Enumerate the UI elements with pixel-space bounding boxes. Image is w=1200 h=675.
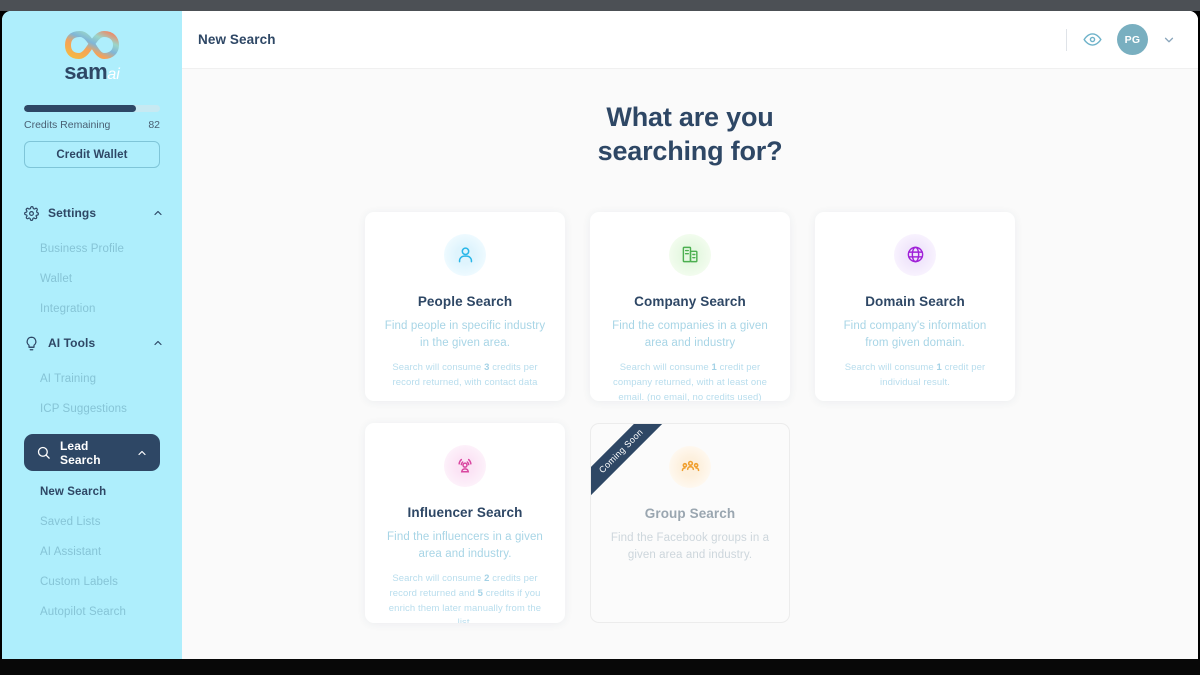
header-divider	[1066, 29, 1067, 51]
hero-line-2: searching for?	[182, 135, 1198, 169]
avatar[interactable]: PG	[1117, 24, 1148, 55]
card-credit-note: Search will consume 3 credits per record…	[381, 361, 549, 390]
credits-progress-bar	[24, 105, 160, 112]
sidebar-item-label: AI Tools	[48, 336, 143, 350]
sidebar-item-autopilot-search[interactable]: Autopilot Search	[2, 597, 182, 627]
infinity-logo-icon	[63, 27, 121, 63]
sidebar: samai Credits Remaining 82 Credit Wallet	[2, 11, 182, 659]
top-header: New Search PG	[182, 11, 1198, 69]
sidebar-item-integration[interactable]: Integration	[2, 294, 182, 324]
lightbulb-icon	[24, 336, 39, 351]
sidebar-item-ai-tools[interactable]: AI Tools	[2, 328, 182, 358]
app-logo[interactable]: samai	[2, 11, 182, 83]
globe-icon	[894, 234, 936, 276]
sidebar-item-wallet[interactable]: Wallet	[2, 264, 182, 294]
eye-icon[interactable]	[1081, 29, 1103, 51]
sidebar-item-new-search[interactable]: New Search	[2, 477, 182, 507]
chevron-down-icon[interactable]	[1162, 33, 1176, 47]
browser-chrome-bottom	[0, 659, 1200, 675]
main-area: New Search PG	[182, 11, 1198, 659]
card-company-search[interactable]: Company Search Find the companies in a g…	[590, 212, 790, 401]
sidebar-item-label: Lead Search	[60, 439, 127, 467]
card-group-search: Coming Soon Group Search	[590, 423, 790, 623]
screenshot-frame: samai Credits Remaining 82 Credit Wallet	[0, 0, 1200, 675]
sidebar-item-ai-training[interactable]: AI Training	[2, 364, 182, 394]
chevron-up-icon	[136, 447, 148, 459]
credits-block: Credits Remaining 82 Credit Wallet	[24, 105, 160, 168]
credits-row: Credits Remaining 82	[24, 119, 160, 131]
browser-chrome-top	[0, 0, 1200, 11]
content-area: What are you searching for? People Searc…	[182, 69, 1198, 659]
card-description: Find the Facebook groups in a given area…	[607, 530, 773, 566]
sidebar-item-saved-lists[interactable]: Saved Lists	[2, 507, 182, 537]
nav-sub-ai-tools: AI Training ICP Suggestions	[2, 358, 182, 424]
sidebar-item-ai-assistant[interactable]: AI Assistant	[2, 537, 182, 567]
sidebar-nav: Settings Business Profile Wallet Integra…	[2, 198, 182, 627]
sidebar-item-lead-search[interactable]: Lead Search	[24, 434, 160, 471]
gear-icon	[24, 206, 39, 221]
app-viewport: samai Credits Remaining 82 Credit Wallet	[2, 11, 1198, 659]
sidebar-item-label: Settings	[48, 206, 143, 220]
card-credit-note: Search will consume 1 credit per individ…	[831, 361, 999, 390]
card-description: Find the companies in a given area and i…	[606, 318, 774, 354]
nav-group-ai-tools: AI Tools AI Training ICP Suggestions	[2, 328, 182, 424]
sidebar-item-custom-labels[interactable]: Custom Labels	[2, 567, 182, 597]
sidebar-item-settings[interactable]: Settings	[2, 198, 182, 228]
group-icon	[669, 446, 711, 488]
credits-label: Credits Remaining	[24, 119, 110, 131]
hero-heading: What are you searching for?	[182, 101, 1198, 169]
logo-wordmark: samai	[64, 61, 120, 83]
influencer-icon	[444, 445, 486, 487]
nav-sub-lead-search: New Search Saved Lists AI Assistant Cust…	[2, 471, 182, 627]
card-domain-search[interactable]: Domain Search Find company's information…	[815, 212, 1015, 401]
logo-ai-suffix: ai	[107, 66, 119, 83]
credits-value: 82	[148, 119, 160, 131]
nav-group-lead-search: Lead Search New Search Saved Lists AI As…	[2, 434, 182, 627]
card-credit-note: Search will consume 2 credits per record…	[381, 572, 549, 622]
nav-group-settings: Settings Business Profile Wallet Integra…	[2, 198, 182, 324]
card-title: Influencer Search	[408, 505, 523, 520]
card-people-search[interactable]: People Search Find people in specific in…	[365, 212, 565, 401]
card-description: Find the influencers in a given area and…	[381, 529, 549, 565]
card-credit-note: Search will consume 1 credit per company…	[606, 361, 774, 400]
nav-sub-settings: Business Profile Wallet Integration	[2, 228, 182, 324]
chevron-up-icon	[152, 207, 164, 219]
coming-soon-ribbon: Coming Soon	[590, 423, 673, 503]
card-title: Group Search	[645, 506, 735, 521]
sidebar-item-business-profile[interactable]: Business Profile	[2, 234, 182, 264]
card-description: Find people in specific industry in the …	[381, 318, 549, 354]
page-title: New Search	[198, 32, 276, 47]
card-title: Domain Search	[865, 294, 965, 309]
building-icon	[669, 234, 711, 276]
card-title: People Search	[418, 294, 512, 309]
header-actions: PG	[1066, 24, 1176, 55]
card-description: Find company's information from given do…	[831, 318, 999, 354]
credit-wallet-button[interactable]: Credit Wallet	[24, 141, 160, 168]
person-icon	[444, 234, 486, 276]
sidebar-item-icp-suggestions[interactable]: ICP Suggestions	[2, 394, 182, 424]
hero-line-1: What are you	[606, 102, 773, 132]
card-influencer-search[interactable]: Influencer Search Find the influencers i…	[365, 423, 565, 623]
credits-progress-fill	[24, 105, 136, 112]
card-title: Company Search	[634, 294, 746, 309]
chevron-up-icon	[152, 337, 164, 349]
search-icon	[36, 445, 51, 460]
search-type-grid: People Search Find people in specific in…	[365, 212, 1015, 623]
